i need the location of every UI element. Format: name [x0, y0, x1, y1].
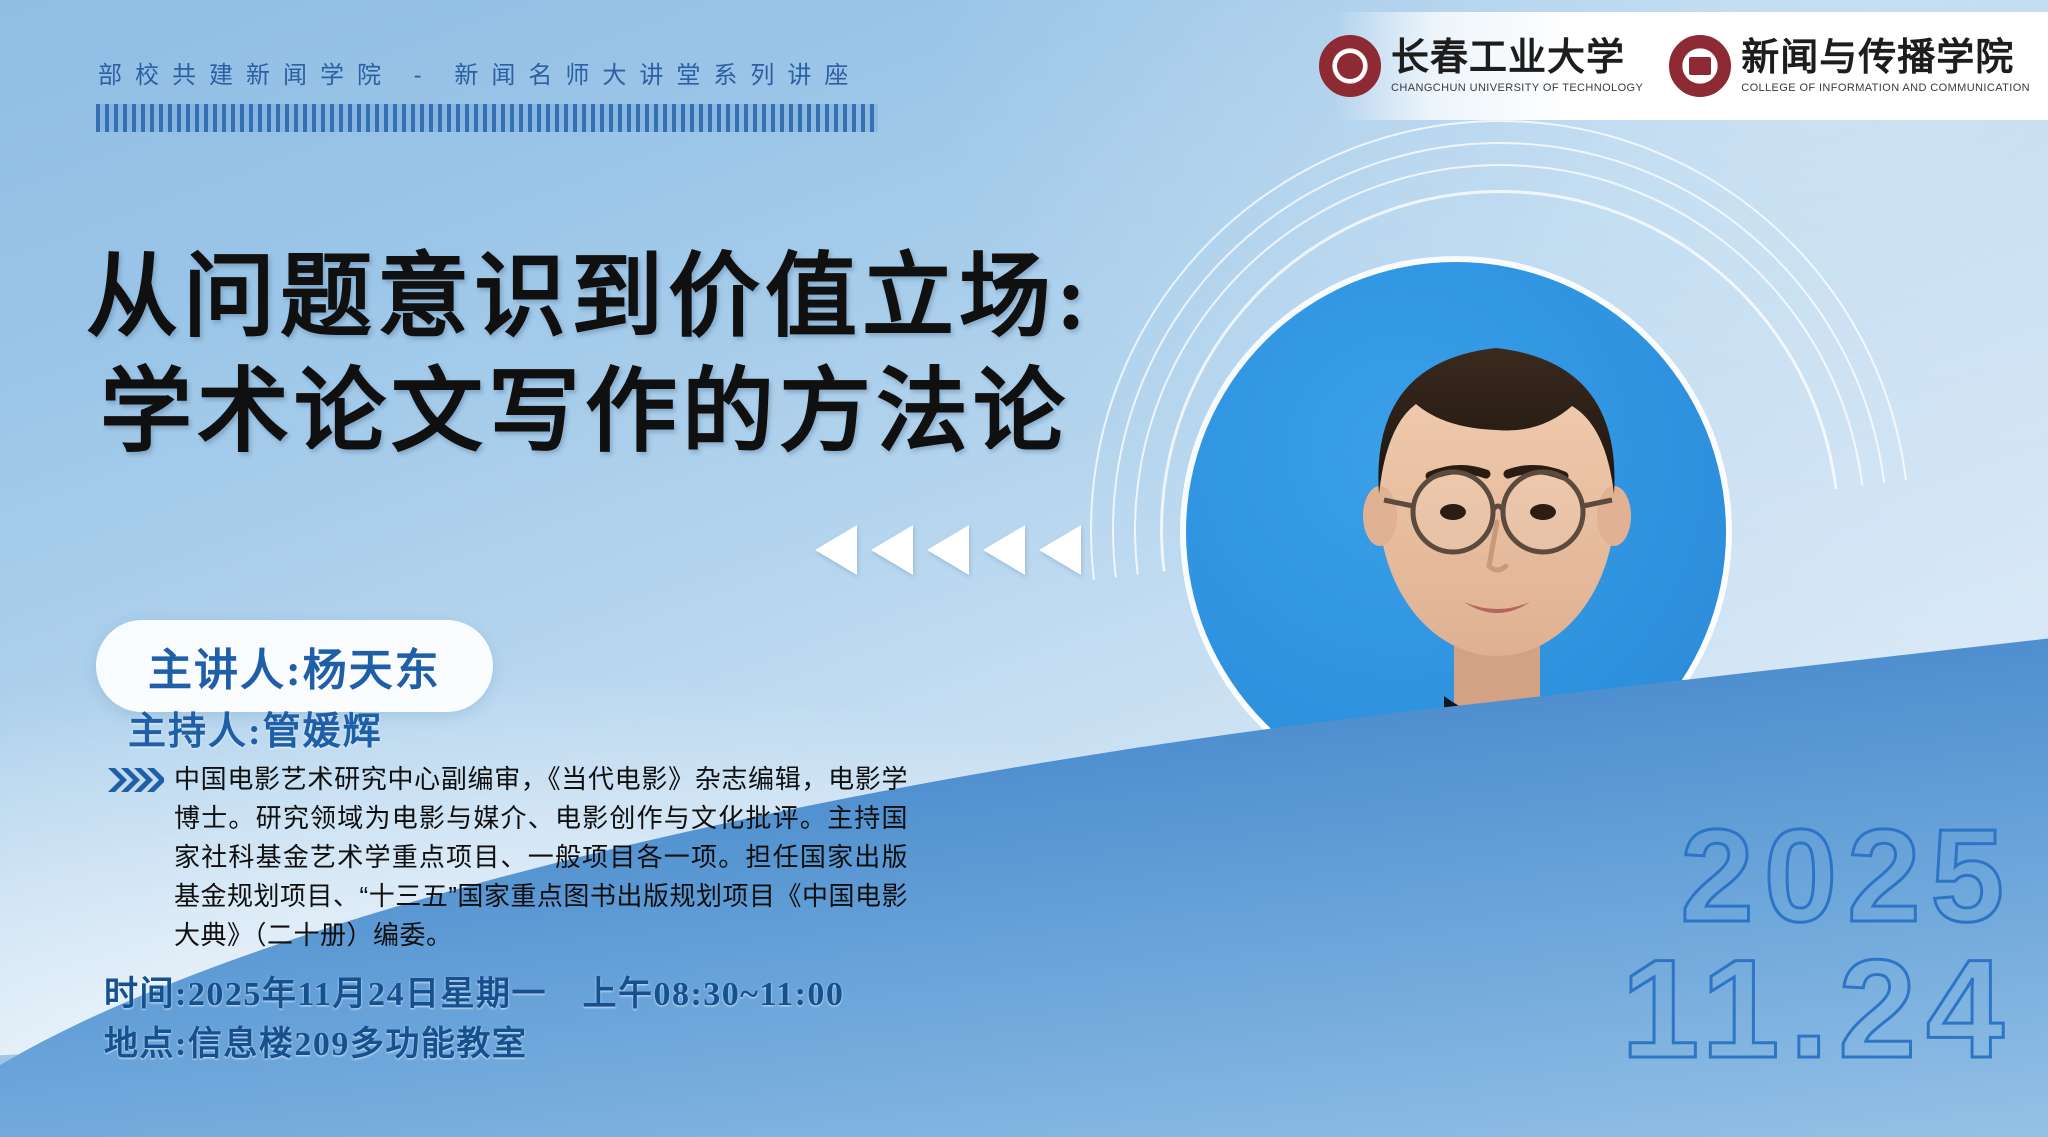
university-seal-icon [1319, 35, 1381, 97]
college-name-cn: 新闻与传播学院 [1741, 39, 2030, 77]
college-name-en: COLLEGE OF INFORMATION AND COMMUNICATION [1741, 83, 2030, 94]
barcode-divider [96, 104, 878, 132]
college-logo: 新闻与传播学院 COLLEGE OF INFORMATION AND COMMU… [1669, 35, 2030, 97]
chevrons-right-icon [108, 760, 164, 955]
schedule-info: 时间:2025年11月24日星期一 上午08:30~11:00 地点:信息楼20… [104, 970, 844, 1069]
triangle-arrows-decoration [815, 525, 1081, 575]
host-label: 主持人:管媛辉 [128, 700, 383, 755]
title-line-2: 学术论文写作的方法论 [100, 355, 1092, 470]
triangle-left-icon [927, 525, 969, 575]
college-seal-icon [1669, 35, 1731, 97]
university-logo: 长春工业大学 CHANGCHUN UNIVERSITY OF TECHNOLOG… [1319, 35, 1643, 97]
speaker-bio-block: 中国电影艺术研究中心副编审，《当代电影》杂志编辑，电影学博士。研究领域为电影与媒… [108, 760, 908, 955]
series-title: 部校共建新闻学院 - 新闻名师大讲堂系列讲座 [98, 55, 861, 90]
speaker-label: 主讲人:杨天东 [148, 646, 441, 695]
title-line-1: 从问题意识到价值立场: [86, 246, 1092, 348]
triangle-left-icon [871, 525, 913, 575]
university-name-en: CHANGCHUN UNIVERSITY OF TECHNOLOGY [1391, 83, 1643, 94]
page-title: 从问题意识到价值立场: 学术论文写作的方法论 [86, 240, 1092, 470]
place-line: 地点:信息楼209多功能教室 [104, 1020, 844, 1069]
institution-logo-panel: 长春工业大学 CHANGCHUN UNIVERSITY OF TECHNOLOG… [1334, 12, 2048, 120]
triangle-left-icon [983, 525, 1025, 575]
speaker-badge: 主讲人:杨天东 [96, 620, 493, 712]
time-line: 时间:2025年11月24日星期一 上午08:30~11:00 [104, 970, 844, 1019]
university-name-cn: 长春工业大学 [1391, 39, 1643, 77]
lecture-poster: 2025 11.24 长春工业大学 CHANGCHUN UNIVERSITY O… [0, 0, 2048, 1137]
triangle-left-icon [815, 525, 857, 575]
speaker-bio-text: 中国电影艺术研究中心副编审，《当代电影》杂志编辑，电影学博士。研究领域为电影与媒… [174, 760, 908, 955]
triangle-left-icon [1039, 525, 1081, 575]
